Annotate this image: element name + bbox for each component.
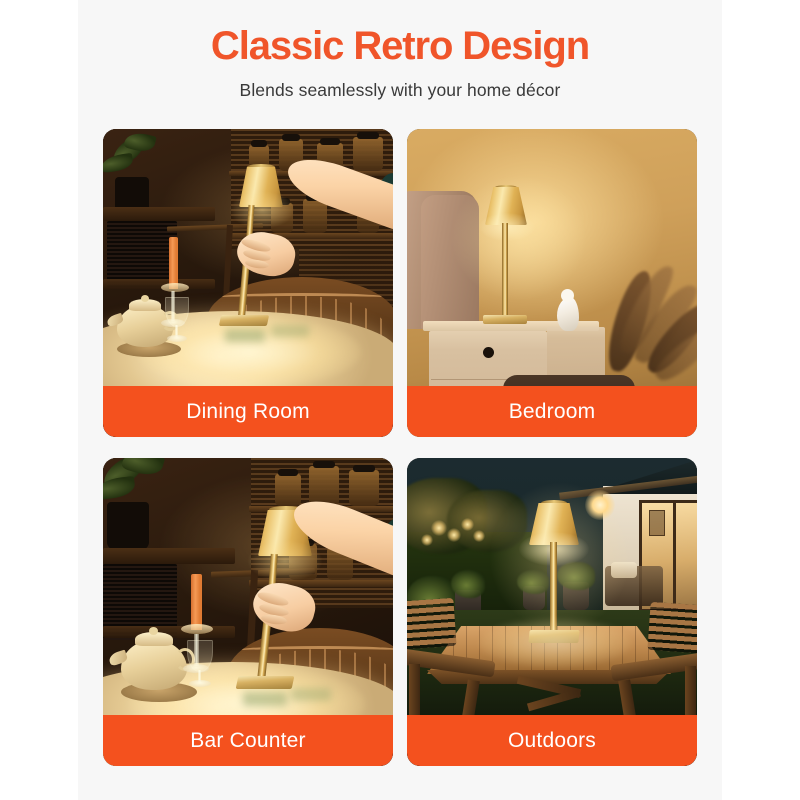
card-label-text: Bar Counter	[190, 730, 305, 751]
card-label-text: Bedroom	[509, 401, 596, 422]
scene-card-outdoors[interactable]: Outdoors	[407, 458, 697, 766]
card-label-outdoors: Outdoors	[407, 715, 697, 766]
scene-card-dining-room[interactable]: Dining Room	[103, 129, 393, 437]
card-label-text: Outdoors	[508, 730, 596, 751]
card-label-bedroom: Bedroom	[407, 386, 697, 437]
scene-card-grid: Dining Room	[103, 129, 697, 766]
card-label-dining-room: Dining Room	[103, 386, 393, 437]
card-label-bar-counter: Bar Counter	[103, 715, 393, 766]
product-feature-page: Classic Retro Design Blends seamlessly w…	[0, 0, 800, 800]
page-subtitle: Blends seamlessly with your home décor	[78, 80, 722, 101]
card-label-text: Dining Room	[186, 401, 310, 422]
page-title: Classic Retro Design	[78, 24, 722, 69]
header: Classic Retro Design Blends seamlessly w…	[78, 0, 722, 101]
scene-card-bedroom[interactable]: Bedroom	[407, 129, 697, 437]
scene-card-bar-counter[interactable]: Bar Counter	[103, 458, 393, 766]
